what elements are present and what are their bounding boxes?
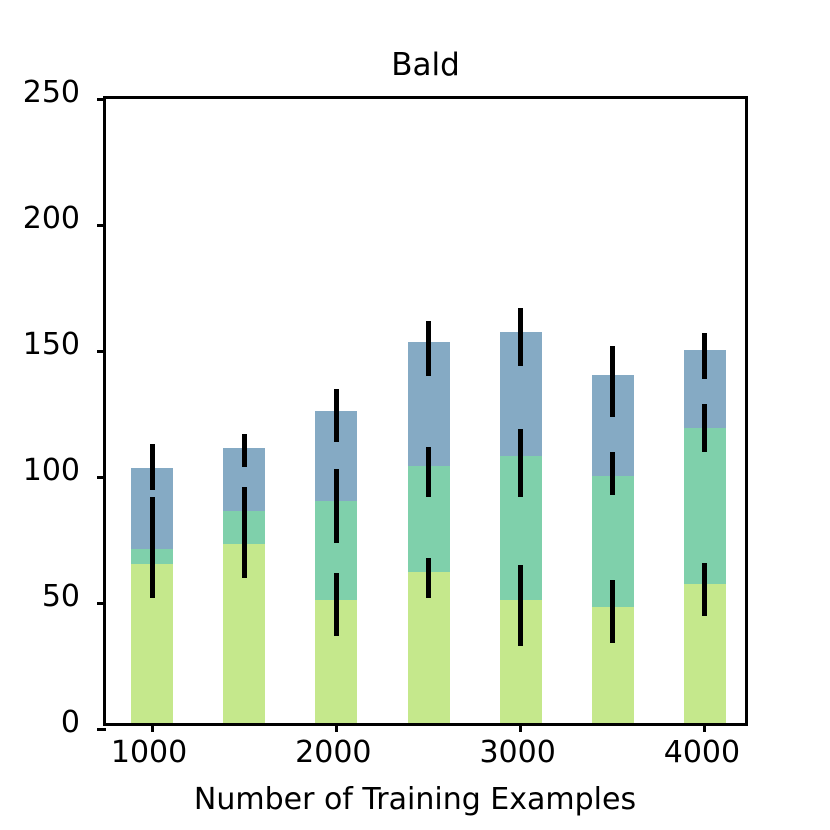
- y-axis-tick-label: 50: [42, 579, 80, 614]
- error-bar: [242, 434, 247, 467]
- x-axis-tick-label: 2000: [295, 735, 371, 770]
- y-axis-tick: [97, 728, 106, 731]
- y-axis-tick: [97, 350, 106, 353]
- error-bar: [426, 558, 431, 598]
- x-axis-tick: [519, 723, 522, 732]
- error-bar: [518, 565, 523, 646]
- y-axis-tick: [97, 98, 106, 101]
- x-axis-tick: [335, 723, 338, 732]
- y-axis-tick-label: 100: [23, 453, 80, 488]
- y-axis-tick-label: 0: [61, 705, 80, 740]
- error-bar: [610, 452, 615, 495]
- error-bar: [702, 404, 707, 452]
- bar-stack[interactable]: [315, 411, 357, 723]
- y-axis-tick-label: 200: [23, 201, 80, 236]
- error-bar: [334, 469, 339, 542]
- y-axis-tick: [97, 224, 106, 227]
- bar-stack[interactable]: [592, 375, 634, 723]
- x-axis-tick-labels: 1000200030004000: [103, 735, 748, 779]
- plot-area: [103, 96, 748, 726]
- error-bar: [518, 308, 523, 366]
- error-bar: [150, 497, 155, 570]
- x-axis-label: Number of Training Examples: [0, 782, 830, 817]
- x-axis-tick-label: 4000: [664, 735, 740, 770]
- bar-stack[interactable]: [408, 342, 450, 723]
- error-bar: [426, 447, 431, 497]
- bars-layer: [106, 99, 745, 723]
- x-axis-tick: [703, 723, 706, 732]
- error-bar: [610, 580, 615, 643]
- chart-figure: Bald 250200150100500 1000200030004000 Nu…: [0, 0, 830, 830]
- error-bar: [150, 444, 155, 489]
- error-bar: [242, 527, 247, 577]
- bar-stack[interactable]: [500, 332, 542, 723]
- x-axis-tick: [151, 723, 154, 732]
- error-bar: [610, 346, 615, 417]
- error-bar: [426, 321, 431, 376]
- error-bar: [518, 429, 523, 497]
- y-axis-tick: [97, 602, 106, 605]
- x-axis-tick-label: 3000: [479, 735, 555, 770]
- error-bar: [334, 389, 339, 442]
- error-bar: [702, 563, 707, 616]
- y-axis-tick-label: 150: [23, 327, 80, 362]
- y-axis-tick-labels: 250200150100500: [0, 96, 94, 726]
- y-axis-tick-label: 250: [23, 75, 80, 110]
- y-axis-tick: [97, 476, 106, 479]
- error-bar: [334, 573, 339, 636]
- page-title: Bald: [103, 48, 748, 82]
- error-bar: [702, 333, 707, 378]
- error-bar: [242, 487, 247, 532]
- x-axis-tick-label: 1000: [111, 735, 187, 770]
